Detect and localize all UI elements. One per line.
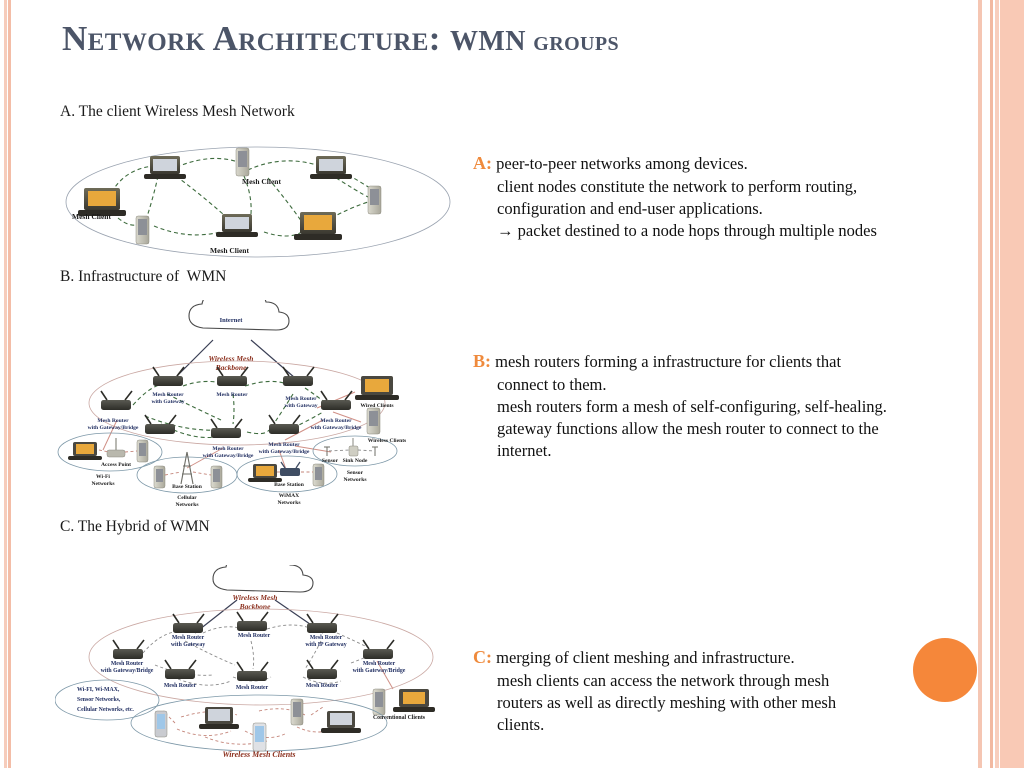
svg-text:with Gateway/Bridge: with Gateway/Bridge (353, 668, 406, 674)
explanation-block-b: B: mesh routers forming a infrastructure… (473, 350, 973, 462)
mesh-router-icon (237, 612, 268, 631)
svg-text:with IP Gateway: with IP Gateway (305, 642, 346, 648)
pda-icon (236, 148, 249, 176)
right-border-stripe-3 (995, 0, 999, 768)
explanation-a-line-1: peer-to-peer networks among devices. (496, 154, 748, 173)
explanation-block-c: C: merging of client meshing and infrast… (473, 646, 973, 736)
svg-text:Mesh Router: Mesh Router (216, 392, 248, 398)
svg-text:Mesh Router: Mesh Router (111, 661, 144, 667)
explanation-c-line-2: mesh clients can access the network thro… (473, 670, 973, 692)
pda-icon (154, 466, 165, 488)
mesh-router-icon (153, 367, 184, 386)
pda-icon (291, 699, 303, 725)
svg-text:with Gateway/Bridge: with Gateway/Bridge (311, 425, 362, 431)
mesh-router-icon (307, 660, 338, 679)
backbone-label-line1: Wireless Mesh (233, 593, 278, 602)
diagram-a-label: Mesh Client (72, 212, 111, 221)
right-border-stripe-1 (978, 0, 982, 768)
svg-text:Base Station: Base Station (274, 482, 305, 488)
laptop-icon (248, 464, 282, 482)
explanation-block-a: A: peer-to-peer networks among devices. … (473, 152, 973, 242)
sink-node-icon (349, 438, 358, 456)
laptop-icon (216, 214, 258, 237)
laptop-icon (310, 156, 352, 179)
diagram-a-label: Mesh Client (242, 177, 281, 186)
svg-text:Mesh Router: Mesh Router (363, 661, 396, 667)
smartphone-icon (155, 711, 167, 737)
svg-text:Mesh Router: Mesh Router (268, 442, 300, 448)
svg-text:with Gateway/Bridge: with Gateway/Bridge (259, 449, 310, 455)
left-border-stripe-1 (4, 0, 7, 768)
internet-cloud-label: Internet (220, 317, 244, 324)
mesh-router-icon (113, 640, 144, 659)
section-heading-b: B. Infrastructure of WMN (60, 268, 226, 286)
explanation-c-line-1: merging of client meshing and infrastruc… (496, 648, 794, 667)
pda-icon (136, 216, 149, 244)
smartphone-icon (253, 723, 266, 751)
svg-text:Conventional Clients: Conventional Clients (373, 715, 426, 721)
explanation-a-line-2: client nodes constitute the network to p… (473, 176, 973, 198)
explanation-b-line-3: mesh routers form a mesh of self-configu… (473, 396, 973, 418)
diagram-a-label: Mesh Client (210, 246, 249, 255)
explanation-b-line-5: internet. (473, 440, 973, 462)
svg-text:Mesh Router: Mesh Router (236, 685, 269, 691)
laptop-icon (68, 442, 102, 460)
laptop-icon (321, 711, 361, 733)
svg-text:Wired Clients: Wired Clients (360, 403, 394, 409)
svg-text:Mesh Router: Mesh Router (212, 446, 244, 452)
internet-cloud-label: Internet (244, 565, 268, 567)
pda-icon (368, 186, 381, 214)
explanation-b-line-4: gateway functions allow the mesh router … (473, 418, 973, 440)
laptop-icon (294, 212, 342, 240)
explanation-tag-a: A: (473, 153, 492, 173)
laptop-icon (393, 689, 435, 712)
svg-text:with Gateway: with Gateway (151, 399, 184, 405)
mesh-router-icon (101, 391, 132, 410)
svg-text:Wi-FI, Wi-MAX,: Wi-FI, Wi-MAX, (77, 687, 120, 693)
svg-text:Mesh Router: Mesh Router (320, 418, 352, 424)
mesh-router-icon (237, 662, 268, 681)
slide-root: Network Architecture: WMN groups A. The … (0, 0, 1024, 768)
svg-text:Cellular: Cellular (177, 495, 197, 501)
svg-text:with Gateway/Bridge: with Gateway/Bridge (101, 668, 154, 674)
explanation-a-line-4: → packet destined to a node hops through… (473, 220, 973, 242)
explanation-a-line-3: configuration and end-user applications. (473, 198, 973, 220)
backbone-label-line2: Backbone (239, 602, 272, 611)
mesh-router-icon (145, 415, 176, 434)
page-title-sub: WMN groups (450, 26, 619, 57)
svg-text:with Gateway/Bridge: with Gateway/Bridge (88, 425, 139, 431)
mesh-router-icon (173, 614, 204, 633)
mesh-router-icon (211, 419, 242, 438)
diagram-client-wmn: Mesh Client Mesh Client Mesh Client (58, 140, 458, 265)
pda-icon (367, 408, 380, 434)
svg-text:Base Station: Base Station (172, 484, 203, 490)
mesh-router-icon (269, 415, 300, 434)
mesh-router-icon (363, 640, 394, 659)
right-border-band (1000, 0, 1024, 768)
mesh-router-icon (321, 391, 352, 410)
explanation-c-line-3: routers as well as directly meshing with… (473, 692, 973, 714)
svg-text:Networks: Networks (176, 502, 200, 508)
svg-text:Mesh Router: Mesh Router (172, 635, 205, 641)
svg-text:Networks: Networks (92, 481, 116, 487)
svg-text:with Gateway: with Gateway (284, 403, 317, 409)
diagram-hybrid-wmn: Internet Wireless Mesh Backbone (55, 565, 475, 765)
section-heading-a: A. The client Wireless Mesh Network (60, 103, 295, 121)
svg-text:Mesh Router: Mesh Router (164, 683, 197, 689)
svg-text:Access Point: Access Point (101, 462, 131, 468)
laptop-icon (355, 376, 399, 400)
svg-text:Wireless Clients: Wireless Clients (368, 438, 407, 444)
svg-text:with Gateway: with Gateway (171, 642, 205, 648)
svg-text:Mesh Router: Mesh Router (238, 633, 271, 639)
base-station-icon (280, 462, 300, 476)
svg-text:Cellular Networks, etc.: Cellular Networks, etc. (77, 707, 134, 713)
svg-text:Mesh Router: Mesh Router (97, 418, 129, 424)
orange-circle-decoration (913, 638, 977, 702)
explanation-tag-b: B: (473, 351, 491, 371)
mesh-router-icon (165, 660, 196, 679)
svg-text:Mesh Router: Mesh Router (285, 396, 317, 402)
right-border-stripe-2 (990, 0, 993, 768)
svg-text:Mesh Router: Mesh Router (306, 683, 339, 689)
laptop-icon (144, 156, 186, 179)
section-heading-c: C. The Hybrid of WMN (60, 518, 210, 536)
page-title-main: Network Architecture: (62, 19, 441, 58)
wireless-mesh-clients-label: Wireless Mesh Clients (222, 750, 295, 759)
svg-text:Mesh Router: Mesh Router (152, 392, 184, 398)
access-point-icon (107, 438, 125, 457)
left-border-stripe-2 (8, 0, 11, 768)
svg-text:Networks: Networks (278, 500, 302, 506)
mesh-router-icon (283, 367, 314, 386)
svg-text:Wi-Fi: Wi-Fi (96, 474, 110, 480)
svg-text:Mesh Router: Mesh Router (310, 635, 343, 641)
pda-icon (211, 466, 222, 488)
internet-cloud-icon: Internet (213, 565, 313, 592)
svg-text:Networks: Networks (344, 477, 368, 483)
explanation-b-line-1: mesh routers forming a infrastructure fo… (495, 352, 841, 371)
explanation-b-line-2: connect to them. (473, 374, 973, 396)
pda-icon (137, 440, 148, 462)
svg-text:with Gateway/Bridge: with Gateway/Bridge (203, 453, 254, 459)
svg-text:Sensor Networks,: Sensor Networks, (77, 697, 121, 703)
page-title: Network Architecture: WMN groups (62, 20, 942, 59)
laptop-icon (199, 707, 239, 729)
sensor-node-icon (372, 447, 378, 456)
explanation-c-line-4: clients. (473, 714, 973, 736)
mesh-router-icon (307, 614, 338, 633)
explanation-tag-c: C: (473, 647, 492, 667)
diagram-infrastructure-wmn: Internet Wireless Mesh Backbone (55, 300, 460, 515)
pda-icon (313, 464, 324, 486)
svg-text:Sink Node: Sink Node (343, 458, 368, 464)
svg-text:WiMAX: WiMAX (279, 493, 299, 499)
svg-text:Sensor: Sensor (347, 470, 364, 476)
svg-text:Sensor: Sensor (322, 458, 339, 464)
internet-cloud-icon: Internet (189, 300, 289, 330)
